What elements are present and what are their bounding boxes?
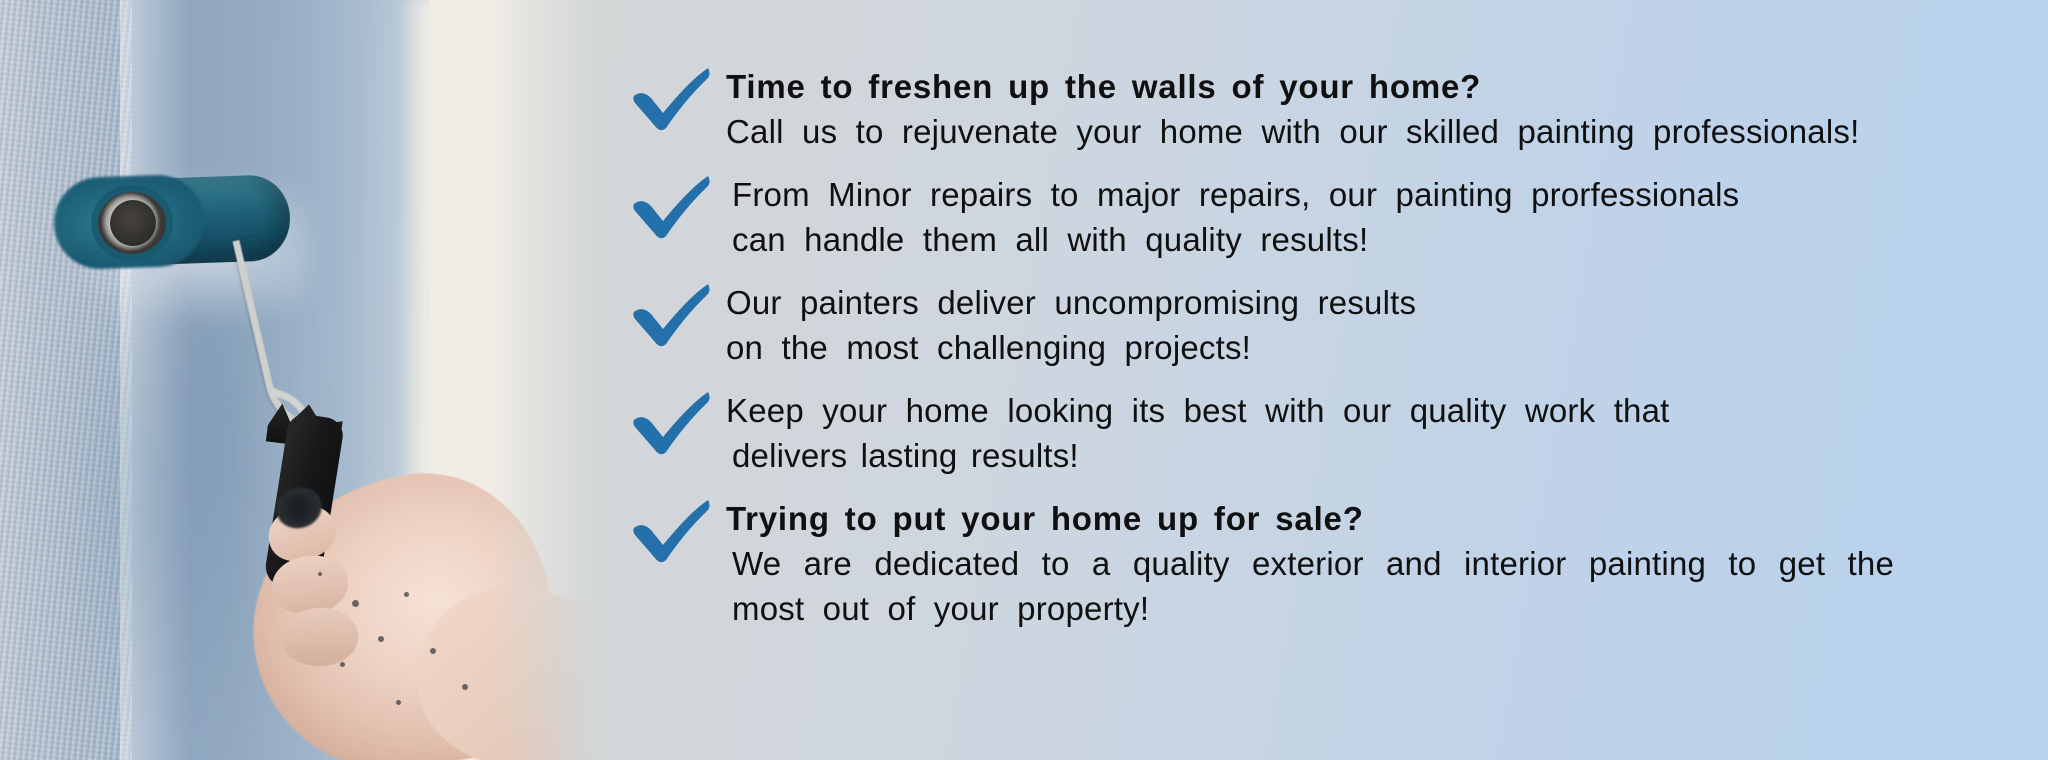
list-item-line: Our painters deliver uncompromising resu… <box>726 280 2030 325</box>
list-item: Our painters deliver uncompromising resu… <box>630 278 2030 370</box>
benefits-list: Time to freshen up the walls of your hom… <box>630 62 2030 647</box>
list-item-line: delivers lasting results! <box>726 433 2030 478</box>
list-item: Trying to put your home up for sale? We … <box>630 494 2030 631</box>
list-item-text: From Minor repairs to major repairs, our… <box>726 170 2030 262</box>
list-item-line: most out of your property! <box>726 586 2030 631</box>
list-item-line: on the most challenging projects! <box>726 325 2030 370</box>
list-item-line: From Minor repairs to major repairs, our… <box>726 172 2030 217</box>
paint-speck <box>340 662 345 667</box>
check-icon <box>630 62 726 132</box>
paint-roller-photo <box>0 0 612 760</box>
paint-speck <box>318 572 322 576</box>
list-item-text: Time to freshen up the walls of your hom… <box>726 62 2030 154</box>
list-item-line: We are dedicated to a quality exterior a… <box>726 541 2030 586</box>
list-item-line: can handle them all with quality results… <box>726 217 2030 262</box>
list-item-text: Trying to put your home up for sale? We … <box>726 494 2030 631</box>
check-icon <box>630 278 726 348</box>
paint-speck <box>352 600 359 607</box>
list-item: Keep your home looking its best with our… <box>630 386 2030 478</box>
promo-banner: Time to freshen up the walls of your hom… <box>0 0 2048 760</box>
check-icon <box>630 494 726 564</box>
list-item-text: Our painters deliver uncompromising resu… <box>726 278 2030 370</box>
paint-speck <box>378 636 384 642</box>
paint-speck <box>396 700 401 705</box>
list-item-line: Time to freshen up the walls of your hom… <box>726 64 2030 109</box>
list-item-line: Trying to put your home up for sale? <box>726 496 2030 541</box>
check-icon <box>630 386 726 456</box>
paint-speck <box>462 684 468 690</box>
check-icon <box>630 170 726 240</box>
list-item-line: Keep your home looking its best with our… <box>726 388 2030 433</box>
list-item-line: Call us to rejuvenate your home with our… <box>726 109 2030 154</box>
paint-speck <box>404 592 409 597</box>
list-item: From Minor repairs to major repairs, our… <box>630 170 2030 262</box>
list-item-text: Keep your home looking its best with our… <box>726 386 2030 478</box>
list-item: Time to freshen up the walls of your hom… <box>630 62 2030 154</box>
paint-speck <box>430 648 436 654</box>
photo-right-fade <box>492 0 612 760</box>
